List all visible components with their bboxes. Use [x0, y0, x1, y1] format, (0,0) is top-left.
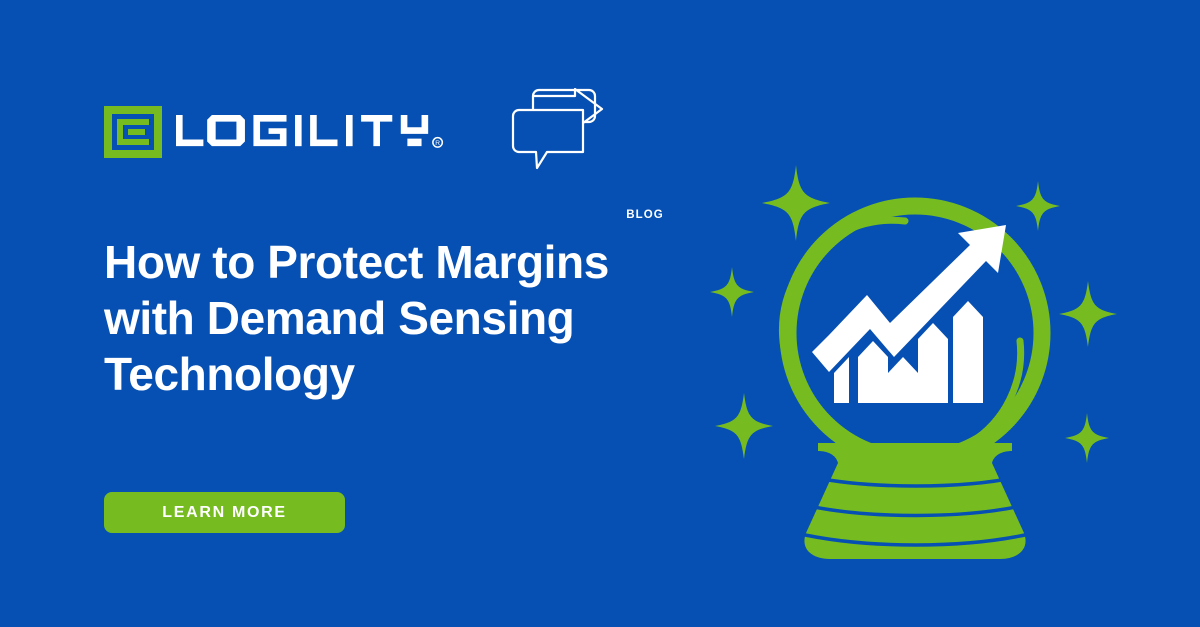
crystal-ball-illustration [700, 145, 1130, 575]
svg-text:R: R [435, 140, 440, 147]
headline: How to Protect Margins with Demand Sensi… [104, 234, 704, 402]
headline-line-3: Technology [104, 346, 704, 402]
brand-bar: R BLOG [104, 88, 611, 176]
sparkle-icon [715, 393, 773, 459]
learn-more-button[interactable]: LEARN MORE [104, 492, 345, 533]
sparkle-icon [710, 267, 754, 317]
chart-bar [858, 341, 888, 403]
sparkle-icon [1016, 181, 1060, 231]
headline-line-1: How to Protect Margins [104, 234, 704, 290]
sparkle-icon [1059, 281, 1117, 347]
social-card: R BLOG How to Protect Margins with Deman… [0, 0, 1200, 627]
chart-bar [918, 323, 948, 403]
chart-bar [888, 357, 918, 403]
logility-spiral-square-icon [104, 106, 162, 158]
chart-bar [953, 301, 983, 403]
headline-line-2: with Demand Sensing [104, 290, 704, 346]
logility-logo[interactable]: R [104, 106, 459, 158]
speech-bubble-pair-icon [503, 88, 611, 176]
sparkle-icon [1065, 413, 1109, 463]
sparkle-icon [762, 165, 830, 241]
growth-chart [812, 225, 1006, 403]
blog-badge-label: BLOG [616, 209, 674, 221]
logility-wordmark: R [176, 115, 459, 149]
blog-badge[interactable] [503, 88, 611, 176]
